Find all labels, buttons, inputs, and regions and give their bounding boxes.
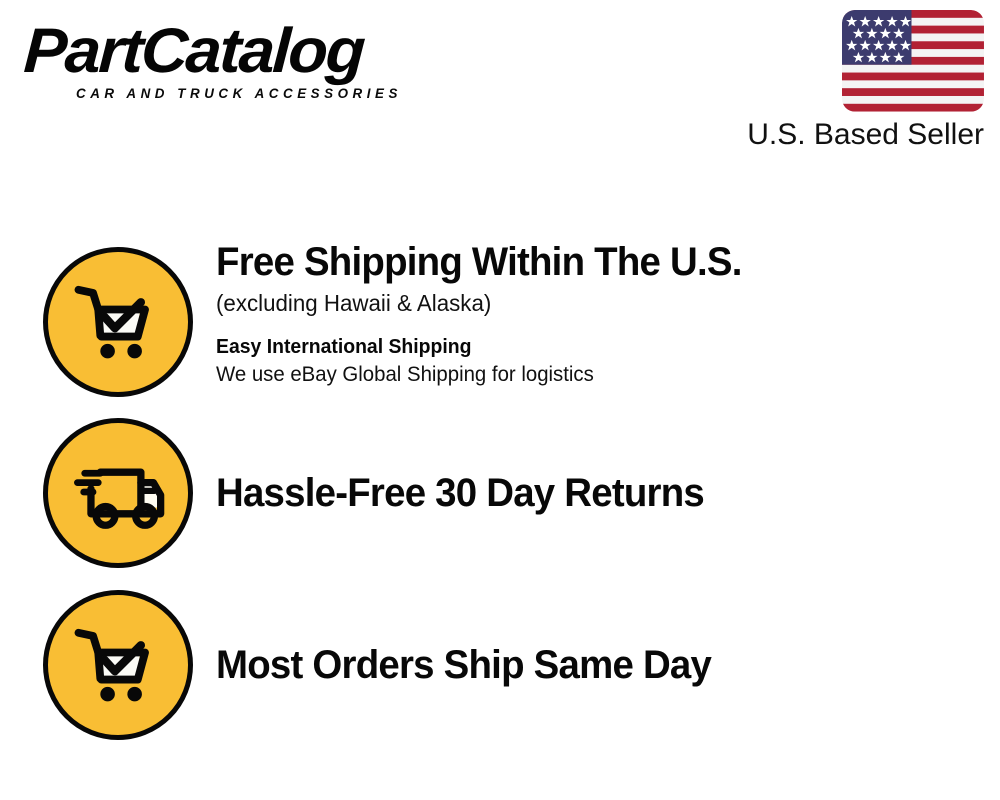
brand-logo: PartCatalog CAR AND TRUCK ACCESSORIES bbox=[24, 22, 494, 101]
us-based-seller-badge: U.S. Based Seller bbox=[747, 10, 984, 152]
delivery-truck-icon bbox=[66, 441, 170, 545]
feature-returns-text: Hassle-Free 30 Day Returns bbox=[216, 472, 724, 514]
feature-returns: Hassle-Free 30 Day Returns bbox=[43, 418, 724, 568]
feature-title: Free Shipping Within The U.S. bbox=[216, 241, 742, 283]
feature-subtitle: (excluding Hawaii & Alaska) bbox=[216, 290, 747, 317]
feature-secondary-subtitle: We use eBay Global Shipping for logistic… bbox=[216, 363, 747, 387]
feature-same-day-text: Most Orders Ship Same Day bbox=[216, 644, 732, 686]
feature-secondary-title: Easy International Shipping bbox=[216, 336, 747, 359]
feature-title: Hassle-Free 30 Day Returns bbox=[216, 472, 704, 514]
us-based-seller-label: U.S. Based Seller bbox=[747, 118, 984, 152]
shopping-cart-check-icon bbox=[66, 270, 170, 374]
feature-title: Most Orders Ship Same Day bbox=[216, 644, 711, 686]
promo-banner: PartCatalog CAR AND TRUCK ACCESSORIES bbox=[0, 0, 1000, 800]
feature-free-shipping: Free Shipping Within The U.S. (excluding… bbox=[43, 247, 764, 397]
delivery-truck-badge bbox=[43, 418, 193, 568]
shopping-cart-check-badge bbox=[43, 247, 193, 397]
us-flag-icon bbox=[842, 10, 984, 112]
shopping-cart-check-badge bbox=[43, 590, 193, 740]
brand-logo-wordmark: PartCatalog bbox=[22, 22, 509, 82]
brand-logo-tagline: CAR AND TRUCK ACCESSORIES bbox=[76, 86, 490, 101]
feature-same-day-shipping: Most Orders Ship Same Day bbox=[43, 590, 732, 740]
shopping-cart-check-icon bbox=[66, 613, 170, 717]
feature-free-shipping-text: Free Shipping Within The U.S. (excluding… bbox=[216, 241, 764, 387]
